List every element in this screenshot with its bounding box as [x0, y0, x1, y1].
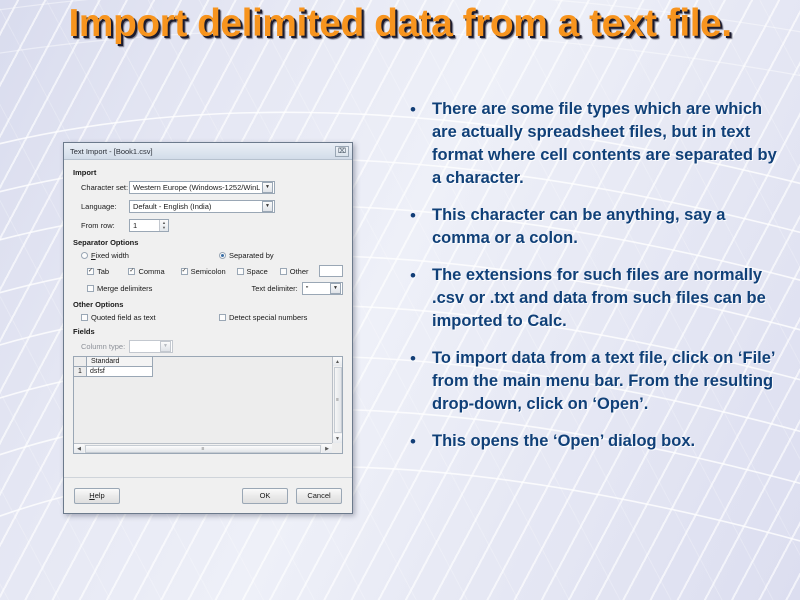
checkbox-icon: ✓: [87, 268, 94, 275]
bullet-list: • There are some file types which are wh…: [404, 98, 786, 467]
horizontal-scroll-thumb[interactable]: ≡: [85, 445, 321, 453]
list-item: • This character can be anything, say a …: [404, 204, 786, 250]
horizontal-scrollbar[interactable]: ◀ ≡ ▶: [74, 443, 332, 453]
other-label: Other: [290, 267, 309, 276]
fields-group-label: Fields: [73, 327, 343, 336]
grid-header-row: Standard: [74, 357, 342, 367]
checkbox-icon: [280, 268, 287, 275]
bullet-marker-icon: •: [404, 204, 432, 227]
column-type-combo[interactable]: ▼: [129, 340, 173, 353]
chevron-down-icon[interactable]: ▼: [330, 283, 341, 294]
cancel-button[interactable]: Cancel: [296, 488, 342, 504]
separated-by-radio[interactable]: Separated by: [219, 251, 274, 260]
separated-by-label: Separated by: [229, 251, 274, 260]
merge-delimiters-checkbox[interactable]: Merge delimiters: [87, 284, 252, 293]
space-label: Space: [247, 267, 268, 276]
other-options-group-label: Other Options: [73, 300, 343, 309]
list-item: • The extensions for such files are norm…: [404, 264, 786, 333]
column-header-standard[interactable]: Standard: [87, 357, 153, 367]
detect-numbers-label: Detect special numbers: [229, 313, 307, 322]
page-title: Import delimited data from a text file.: [30, 2, 770, 46]
grid-corner-cell: [74, 357, 87, 367]
column-type-label: Column type:: [73, 342, 129, 351]
checkbox-icon: ✓: [181, 268, 188, 275]
table-row: 1 dsfsf: [74, 367, 342, 377]
text-delimiter-combo[interactable]: " ▼: [302, 282, 343, 295]
dialog-titlebar: Text Import - [Book1.csv] ⌧: [64, 143, 352, 160]
other-checkbox[interactable]: Other: [280, 267, 320, 276]
language-combo[interactable]: Default - English (India) ▼: [129, 200, 275, 213]
from-row-stepper[interactable]: 1 ▲ ▼: [129, 219, 169, 232]
checkbox-icon: [81, 314, 88, 321]
dialog-body: Import Character set: Western Europe (Wi…: [64, 160, 352, 454]
bullet-text: This character can be anything, say a co…: [432, 204, 786, 250]
character-set-row: Character set: Western Europe (Windows-1…: [73, 181, 343, 194]
chevron-down-icon[interactable]: ▼: [262, 201, 273, 212]
detect-numbers-checkbox[interactable]: Detect special numbers: [219, 313, 307, 322]
stepper-down-icon[interactable]: ▼: [160, 226, 168, 232]
scroll-right-icon[interactable]: ▶: [322, 444, 332, 453]
checkbox-icon: ✓: [128, 268, 135, 275]
scroll-up-icon[interactable]: ▲: [333, 357, 343, 366]
space-checkbox[interactable]: Space: [237, 267, 280, 276]
character-set-value: Western Europe (Windows-1252/WinLatin 1): [133, 183, 260, 192]
list-item: • To import data from a text file, click…: [404, 347, 786, 416]
bullet-marker-icon: •: [404, 430, 432, 453]
bullet-text: There are some file types which are whic…: [432, 98, 786, 190]
from-row-row: From row: 1 ▲ ▼: [73, 219, 343, 232]
semicolon-label: Semicolon: [191, 267, 226, 276]
bullet-text: To import data from a text file, click o…: [432, 347, 786, 416]
vertical-scroll-thumb[interactable]: ≡: [334, 367, 342, 433]
comma-checkbox[interactable]: ✓ Comma: [128, 267, 180, 276]
comma-label: Comma: [138, 267, 164, 276]
text-delimiter-label-text: Text delimiter:: [252, 284, 298, 293]
character-set-label: Character set:: [73, 183, 129, 192]
close-icon[interactable]: ⌧: [335, 146, 349, 157]
dialog-title: Text Import - [Book1.csv]: [70, 147, 335, 156]
separator-mode-row: Fixed width Separated by: [73, 251, 343, 260]
from-row-label: From row:: [73, 221, 129, 230]
dialog-button-bar: Help OK Cancel: [64, 477, 352, 513]
chevron-down-icon[interactable]: ▼: [262, 182, 273, 193]
vertical-scrollbar[interactable]: ▲ ≡ ▼: [332, 357, 342, 443]
text-delimiter-label: Text delimiter:: [252, 284, 298, 293]
bullet-text: The extensions for such files are normal…: [432, 264, 786, 333]
bullet-marker-icon: •: [404, 347, 432, 370]
scroll-left-icon[interactable]: ◀: [74, 444, 84, 453]
tab-checkbox[interactable]: ✓ Tab: [87, 267, 128, 276]
quoted-field-label: Quoted field as text: [91, 313, 156, 322]
radio-icon: [219, 252, 226, 259]
row-number: 1: [74, 367, 87, 377]
delimiter-checkbox-row: ✓ Tab ✓ Comma ✓ Semicolon Space Othe: [73, 265, 343, 277]
list-item: • There are some file types which are wh…: [404, 98, 786, 190]
checkbox-icon: [219, 314, 226, 321]
fixed-width-label: Fixed width: [91, 251, 129, 260]
import-group-label: Import: [73, 168, 343, 177]
tab-label: Tab: [97, 267, 109, 276]
bullet-text: This opens the ‘Open’ dialog box.: [432, 430, 786, 453]
separator-group-label: Separator Options: [73, 238, 343, 247]
language-label: Language:: [73, 202, 129, 211]
semicolon-checkbox[interactable]: ✓ Semicolon: [181, 267, 237, 276]
from-row-value: 1: [133, 221, 159, 230]
other-delimiter-input[interactable]: [319, 265, 343, 277]
help-button[interactable]: Help: [74, 488, 120, 504]
language-value: Default - English (India): [133, 202, 260, 211]
checkbox-icon: [87, 285, 94, 292]
other-options-row: Quoted field as text Detect special numb…: [73, 313, 343, 322]
list-item: • This opens the ‘Open’ dialog box.: [404, 430, 786, 453]
bullet-marker-icon: •: [404, 98, 432, 121]
fixed-width-label-rest: ixed width: [96, 251, 129, 260]
text-delimiter-value: ": [306, 284, 328, 293]
merge-delimiter-row: Merge delimiters Text delimiter: " ▼: [73, 282, 343, 295]
chevron-down-icon[interactable]: ▼: [160, 341, 171, 352]
character-set-combo[interactable]: Western Europe (Windows-1252/WinLatin 1)…: [129, 181, 275, 194]
import-preview-grid[interactable]: Standard 1 dsfsf ▲ ≡ ▼ ◀ ≡ ▶: [73, 356, 343, 454]
slide-canvas: Import delimited data from a text file. …: [0, 0, 800, 600]
column-type-row: Column type: ▼: [73, 340, 343, 353]
bullet-marker-icon: •: [404, 264, 432, 287]
ok-button[interactable]: OK: [242, 488, 288, 504]
fixed-width-radio[interactable]: Fixed width: [73, 251, 219, 260]
quoted-field-checkbox[interactable]: Quoted field as text: [81, 313, 219, 322]
stepper-buttons[interactable]: ▲ ▼: [159, 220, 168, 231]
merge-delimiters-label: Merge delimiters: [97, 284, 152, 293]
text-import-dialog: Text Import - [Book1.csv] ⌧ Import Chara…: [63, 142, 353, 514]
checkbox-icon: [237, 268, 244, 275]
radio-icon: [81, 252, 88, 259]
scroll-down-icon[interactable]: ▼: [333, 434, 343, 443]
language-row: Language: Default - English (India) ▼: [73, 200, 343, 213]
help-button-label-rest: elp: [95, 491, 105, 500]
grid-cell[interactable]: dsfsf: [87, 367, 153, 377]
